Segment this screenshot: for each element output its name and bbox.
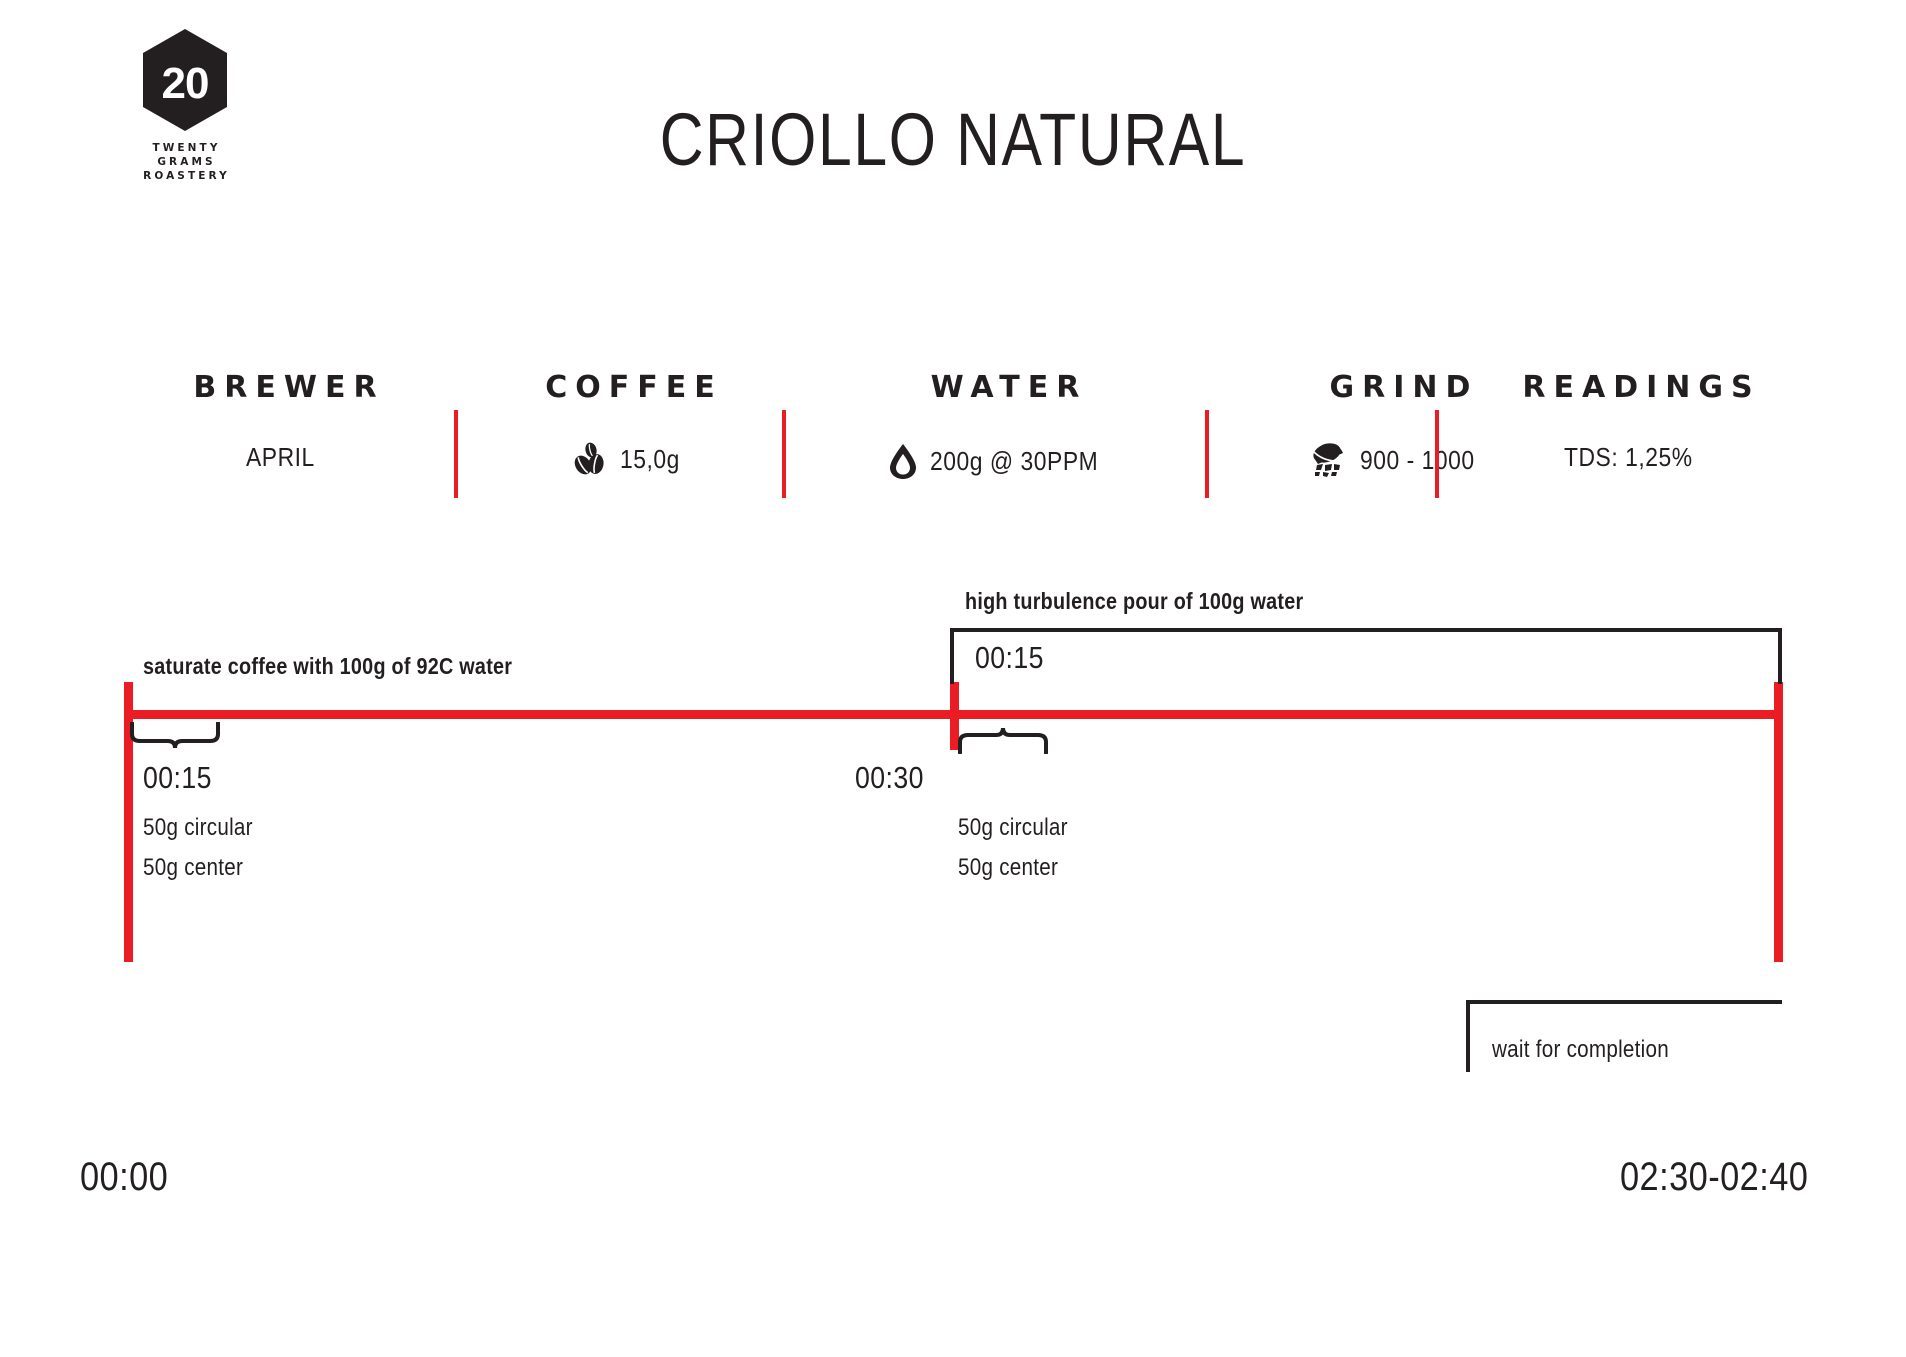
spec-coffee-value-group: 15,0g bbox=[480, 442, 780, 476]
spec-brewer-value: APRIL bbox=[246, 442, 315, 473]
grind-burr-icon bbox=[1310, 442, 1348, 478]
spec-brewer-value-group: APRIL bbox=[120, 442, 450, 473]
spec-divider-4 bbox=[1435, 410, 1439, 498]
brew-recipe-card: 20 TWENTY GRAMS ROASTERY CRIOLLO NATURAL… bbox=[0, 0, 1906, 1357]
spec-divider-3 bbox=[1205, 410, 1209, 498]
coffee-beans-icon bbox=[572, 442, 608, 476]
spec-grind-value: 900 - 1000 bbox=[1360, 445, 1475, 476]
spec-divider-2 bbox=[782, 410, 786, 498]
step-1-detail-1: 50g circular bbox=[143, 808, 253, 848]
spec-water-heading: WATER bbox=[810, 370, 1200, 405]
spec-readings-value-group: TDS: 1,25% bbox=[1465, 442, 1810, 473]
spec-coffee-heading: COFFEE bbox=[480, 370, 780, 405]
spec-readings-value: TDS: 1,25% bbox=[1564, 442, 1693, 473]
step-3-note: wait for completion bbox=[1492, 1030, 1669, 1070]
step-2-duration: 00:15 bbox=[975, 640, 1044, 676]
timeline-tick-end bbox=[1774, 682, 1783, 962]
step-1-brace-icon bbox=[130, 722, 220, 759]
page-title: CRIOLLO NATURAL bbox=[172, 97, 1735, 182]
brew-timeline: saturate coffee with 100g of 92C water 0… bbox=[0, 560, 1906, 1180]
timeline-mid-time: 00:30 bbox=[855, 760, 924, 796]
spec-readings-heading: READINGS bbox=[1465, 370, 1810, 405]
spec-brewer-heading: BREWER bbox=[120, 370, 450, 405]
step-1-detail-2: 50g center bbox=[143, 848, 243, 888]
timeline-end-time: 02:30-02:40 bbox=[1620, 1155, 1808, 1200]
step-2-detail-1: 50g circular bbox=[958, 808, 1068, 848]
step-2-note: high turbulence pour of 100g water bbox=[965, 588, 1303, 615]
step-2-span-bracket bbox=[950, 628, 1782, 684]
spec-water-value: 200g @ 30PPM bbox=[930, 446, 1098, 477]
timeline-start-time: 00:00 bbox=[80, 1155, 168, 1200]
spec-coffee: COFFEE 15,0g bbox=[480, 370, 780, 405]
spec-readings: READINGS TDS: 1,25% bbox=[1465, 370, 1810, 405]
spec-water-value-group: 200g @ 30PPM bbox=[810, 442, 1200, 480]
step-2-brace-icon bbox=[958, 722, 1048, 759]
spec-brewer: BREWER APRIL bbox=[120, 370, 450, 405]
spec-coffee-value: 15,0g bbox=[620, 444, 680, 475]
spec-row: BREWER APRIL COFFEE 15 bbox=[110, 370, 1810, 530]
step-1-duration: 00:15 bbox=[143, 760, 212, 796]
water-drop-icon bbox=[888, 442, 918, 480]
spec-water: WATER 200g @ 30PPM bbox=[810, 370, 1200, 405]
spec-divider-1 bbox=[454, 410, 458, 498]
step-1-note: saturate coffee with 100g of 92C water bbox=[143, 653, 512, 680]
timeline-endpoints: 00:00 02:30-02:40 bbox=[0, 1155, 1906, 1215]
step-2-detail-2: 50g center bbox=[958, 848, 1058, 888]
